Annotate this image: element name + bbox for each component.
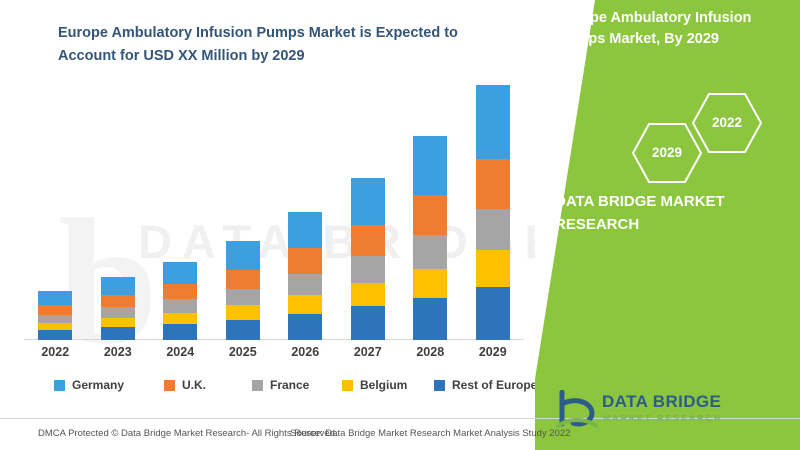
bar-segment xyxy=(38,330,72,340)
x-label-2029: 2029 xyxy=(463,345,523,359)
bar-segment xyxy=(413,195,447,235)
chart-panel: Europe Ambulatory Infusion Pumps Market … xyxy=(0,0,535,450)
legend-swatch xyxy=(434,380,445,391)
bar-segment xyxy=(351,256,385,283)
bar-segment xyxy=(226,270,260,289)
bar-segment xyxy=(351,283,385,306)
bar-segment xyxy=(226,289,260,305)
legend-item-belgium: Belgium xyxy=(342,378,407,392)
legend-swatch xyxy=(54,380,65,391)
screenshot-root: Europe Ambulatory Infusion Pumps Market … xyxy=(0,0,800,450)
bar-2025 xyxy=(226,241,260,340)
x-label-2027: 2027 xyxy=(338,345,398,359)
legend-swatch xyxy=(164,380,175,391)
x-label-2023: 2023 xyxy=(88,345,148,359)
hexagon-group: 2022 2029 xyxy=(623,92,793,182)
bar-segment xyxy=(288,295,322,313)
x-label-2026: 2026 xyxy=(275,345,335,359)
bar-segment xyxy=(413,269,447,299)
bar-segment xyxy=(101,295,135,307)
x-label-2028: 2028 xyxy=(400,345,460,359)
legend-label: France xyxy=(270,378,309,392)
bar-segment xyxy=(351,306,385,340)
bar-segment xyxy=(288,314,322,341)
bar-segment xyxy=(101,327,135,340)
bar-segment xyxy=(163,324,197,340)
bar-segment xyxy=(476,209,510,251)
logo-name: DATA BRIDGE xyxy=(602,392,721,412)
legend-label: Belgium xyxy=(360,378,407,392)
bridge-logo-icon xyxy=(556,390,598,430)
logo-subtitle: MARKET RESEARCH xyxy=(603,413,722,423)
bar-segment xyxy=(288,274,322,295)
bar-segment xyxy=(226,305,260,319)
bar-2026 xyxy=(288,212,322,340)
bar-segment xyxy=(351,225,385,257)
bar-segment xyxy=(163,262,197,284)
legend-item-u-k-: U.K. xyxy=(164,378,206,392)
bar-segment xyxy=(413,235,447,269)
bar-segment xyxy=(413,298,447,340)
bar-segment xyxy=(288,212,322,249)
bar-2029 xyxy=(476,85,510,340)
legend-label: Germany xyxy=(72,378,124,392)
bar-2024 xyxy=(163,262,197,340)
legend-item-rest-of-europe: Rest of Europe xyxy=(434,378,537,392)
company-logo: DATA BRIDGE MARKET RESEARCH xyxy=(556,390,756,434)
panel-brand: DATA BRIDGE MARKET RESEARCH xyxy=(555,190,785,236)
legend-label: U.K. xyxy=(182,378,206,392)
bar-segment xyxy=(38,315,72,323)
bar-segment xyxy=(476,250,510,287)
bar-segment xyxy=(476,159,510,209)
legend-item-france: France xyxy=(252,378,309,392)
bar-segment xyxy=(101,318,135,327)
bar-2022 xyxy=(38,291,72,340)
bar-segment xyxy=(38,305,72,314)
bar-segment xyxy=(163,299,197,312)
bar-2028 xyxy=(413,136,447,340)
bar-segment xyxy=(476,85,510,158)
hexagon-2029-label: 2029 xyxy=(631,145,703,160)
x-label-2024: 2024 xyxy=(150,345,210,359)
x-label-2022: 2022 xyxy=(25,345,85,359)
page-title: Europe Ambulatory Infusion Pumps Market … xyxy=(58,22,518,68)
bar-segment xyxy=(163,313,197,324)
chart-legend: GermanyU.K.FranceBelgiumRest of Europe xyxy=(24,378,524,400)
bar-segment xyxy=(288,248,322,273)
legend-item-germany: Germany xyxy=(54,378,124,392)
panel-title: Europe Ambulatory Infusion Pumps Market,… xyxy=(557,8,787,50)
legend-swatch xyxy=(342,380,353,391)
bar-segment xyxy=(476,287,510,340)
bar-2027 xyxy=(351,178,385,340)
bar-segment xyxy=(413,136,447,195)
bar-segment xyxy=(226,320,260,340)
legend-label: Rest of Europe xyxy=(452,378,537,392)
x-label-2025: 2025 xyxy=(213,345,273,359)
bar-segment xyxy=(38,323,72,330)
right-green-panel: Europe Ambulatory Infusion Pumps Market,… xyxy=(535,0,800,450)
bar-segment xyxy=(163,284,197,299)
bar-segment xyxy=(351,178,385,225)
stacked-bar-plot xyxy=(24,75,524,340)
x-axis-labels: 20222023202420252026202720282029 xyxy=(24,345,524,363)
bar-2023 xyxy=(101,277,135,340)
footer-source: Source: Data Bridge Market Research Mark… xyxy=(290,428,570,439)
bar-segment xyxy=(38,291,72,305)
bar-segment xyxy=(101,307,135,317)
legend-swatch xyxy=(252,380,263,391)
x-axis-line xyxy=(24,339,524,340)
bar-segment xyxy=(101,277,135,295)
bar-segment xyxy=(226,241,260,270)
